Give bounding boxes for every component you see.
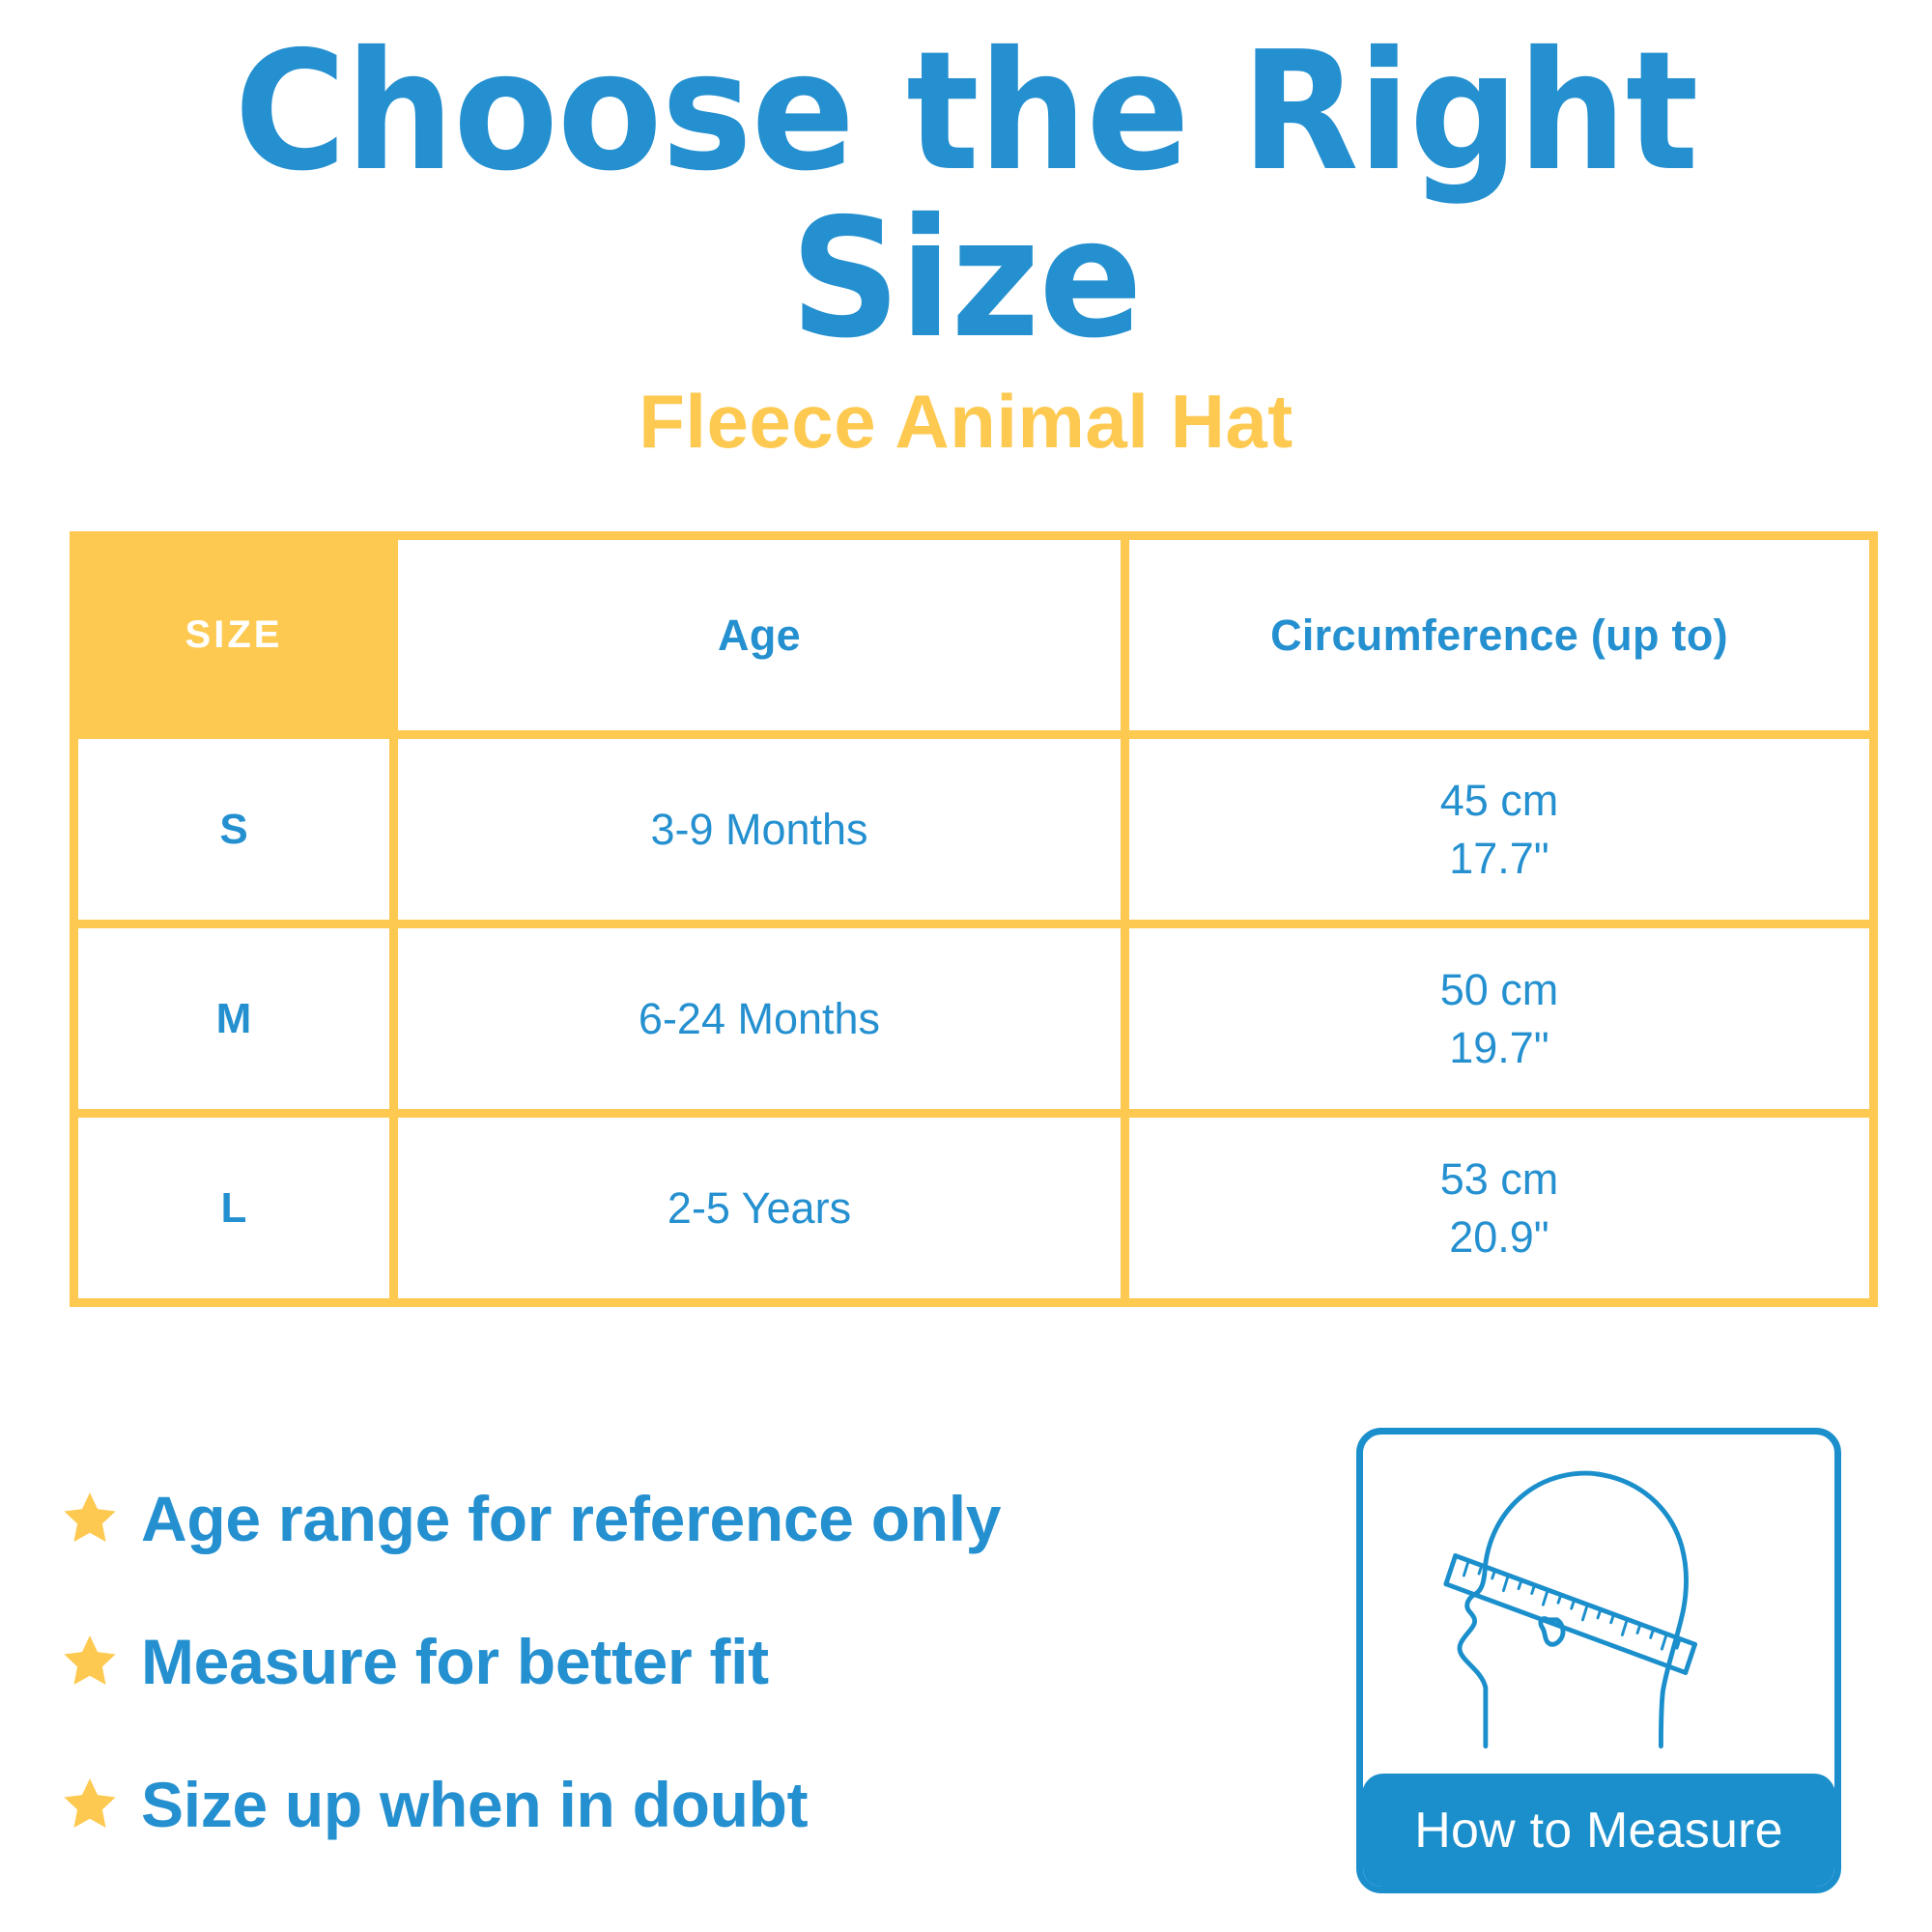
how-to-measure-card[interactable]: How to Measure: [1356, 1428, 1841, 1893]
circumference-in: 19.7": [1130, 1019, 1868, 1076]
tips-list: Age range for reference only Measure for…: [60, 1447, 1045, 1876]
circumference-in: 17.7": [1130, 830, 1868, 887]
table-header: SIZE Age Circumference (up to): [74, 536, 1874, 735]
column-header-size: SIZE: [74, 536, 394, 735]
header: Choose the Right Size Fleece Animal Hat: [0, 0, 1932, 466]
page-subtitle: Fleece Animal Hat: [0, 364, 1932, 466]
table-row: M 6-24 Months 50 cm 19.7": [74, 924, 1874, 1114]
circumference-cm: 50 cm: [1130, 961, 1868, 1018]
tip-label: Measure for better fit: [141, 1625, 769, 1698]
how-to-measure-label: How to Measure: [1414, 1802, 1782, 1860]
circumference-in: 20.9": [1130, 1208, 1868, 1265]
table-body: S 3-9 Months 45 cm 17.7" M 6-24 Months 5…: [74, 735, 1874, 1303]
tip-label: Size up when in doubt: [141, 1768, 808, 1841]
cell-circumference: 53 cm 20.9": [1125, 1114, 1874, 1303]
cell-age: 2-5 Years: [394, 1114, 1125, 1303]
cell-size: L: [74, 1114, 394, 1303]
page-title: Choose the Right Size: [68, 0, 1864, 364]
star-icon: [60, 1775, 120, 1834]
star-icon: [60, 1489, 120, 1548]
how-to-measure-caption-bar: How to Measure: [1362, 1774, 1835, 1888]
table-header-row: SIZE Age Circumference (up to): [74, 536, 1874, 735]
star-icon: [60, 1632, 120, 1691]
circumference-cm: 53 cm: [1130, 1151, 1868, 1207]
cell-size: M: [74, 924, 394, 1114]
cell-age: 3-9 Months: [394, 735, 1125, 924]
cell-circumference: 45 cm 17.7": [1125, 735, 1874, 924]
cell-size: S: [74, 735, 394, 924]
cell-age: 6-24 Months: [394, 924, 1125, 1114]
column-header-age: Age: [394, 536, 1125, 735]
cell-circumference: 50 cm 19.7": [1125, 924, 1874, 1114]
tip-label: Age range for reference only: [141, 1482, 1001, 1555]
list-item: Age range for reference only: [60, 1447, 1045, 1590]
table-row: S 3-9 Months 45 cm 17.7": [74, 735, 1874, 924]
list-item: Measure for better fit: [60, 1590, 1045, 1733]
table-row: L 2-5 Years 53 cm 20.9": [74, 1114, 1874, 1303]
list-item: Size up when in doubt: [60, 1733, 1045, 1876]
circumference-cm: 45 cm: [1130, 772, 1868, 829]
column-header-circumference: Circumference (up to): [1125, 536, 1874, 735]
head-with-tape-measure-icon: [1363, 1435, 1834, 1794]
size-chart-table: SIZE Age Circumference (up to) S 3-9 Mon…: [70, 531, 1878, 1307]
